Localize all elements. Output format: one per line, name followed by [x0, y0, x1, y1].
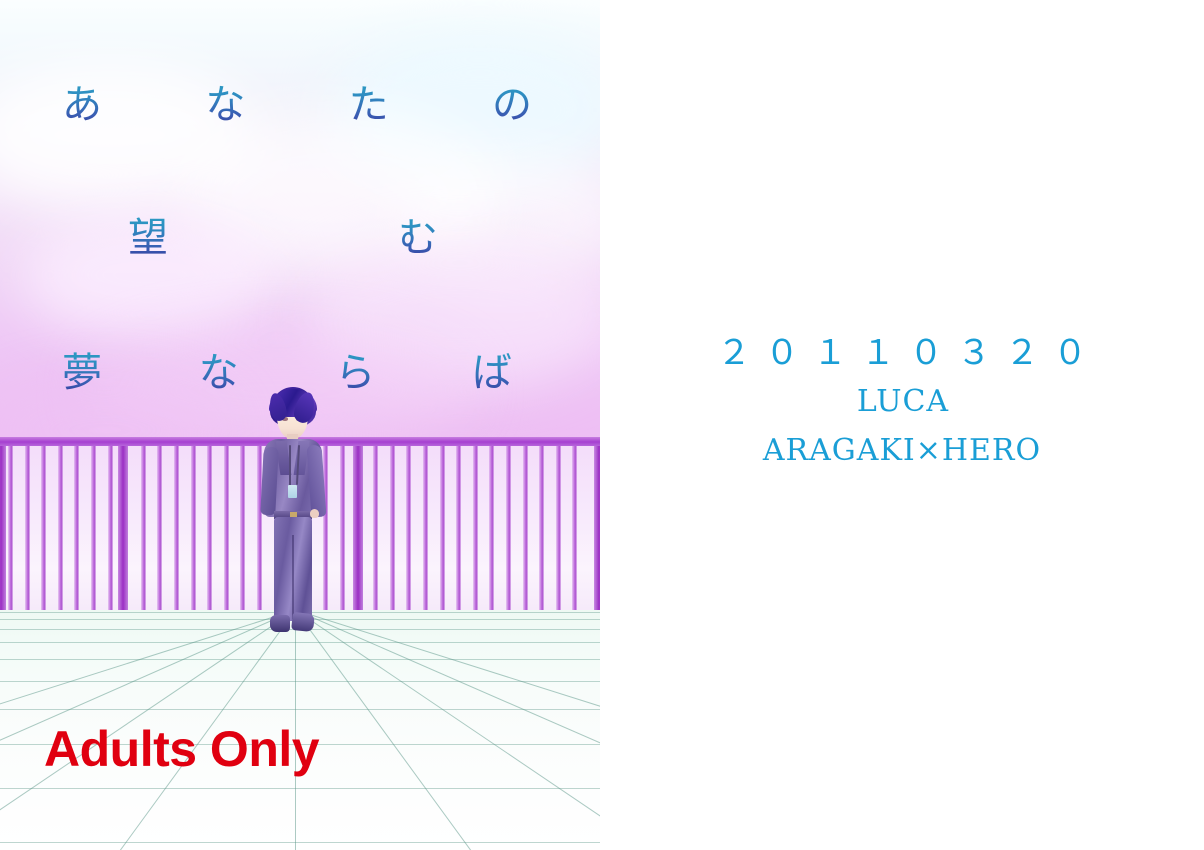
railing-bar: [456, 446, 461, 610]
railing-bar: [340, 446, 345, 610]
title-line-1: あ な た の: [62, 72, 532, 130]
title-char: ら: [335, 340, 375, 398]
railing-bar: [157, 446, 162, 610]
railing-bar: [74, 446, 79, 610]
railing-bar: [240, 446, 245, 610]
railing-bar: [8, 446, 13, 610]
floor-line-horizontal: [0, 709, 600, 710]
railing-bar: [108, 446, 113, 610]
railing-bar: [58, 446, 63, 610]
floor-line-vertical: [295, 610, 600, 850]
railing-bar: [489, 446, 494, 610]
railing-bar: [91, 446, 96, 610]
railing-bar: [423, 446, 428, 610]
title-char: の: [492, 72, 532, 130]
adults-only-label: Adults Only: [44, 724, 319, 774]
title-char: あ: [62, 72, 102, 130]
id-card: [288, 485, 297, 498]
floor-line-horizontal: [0, 842, 600, 843]
railing-bar: [141, 446, 146, 610]
railing-bar: [440, 446, 445, 610]
floor-line-vertical: [295, 610, 600, 850]
railing-bar: [473, 446, 478, 610]
railing-bar: [224, 446, 229, 610]
railing-bar: [25, 446, 30, 610]
circle-name: LUCA: [600, 385, 1204, 420]
shoe-right: [291, 612, 315, 632]
railing-bar: [523, 446, 528, 610]
credits-block: ２０１１０３２０ LUCA ARAGAKI×HERO: [600, 334, 1204, 468]
railing-bar: [191, 446, 196, 610]
railing-bar: [539, 446, 544, 610]
railing-bar: [390, 446, 395, 610]
shoe-left: [270, 615, 290, 632]
floor-line-vertical: [295, 610, 600, 850]
info-panel: ２０１１０３２０ LUCA ARAGAKI×HERO: [600, 0, 1204, 850]
railing-bar: [207, 446, 212, 610]
railing-post: [0, 446, 6, 610]
railing-bar: [41, 446, 46, 610]
title-char: ば: [472, 340, 512, 398]
railing-bar: [373, 446, 378, 610]
artwork-panel: あ な た の 望 む 夢 な ら ば: [0, 0, 600, 850]
pairing-label: ARAGAKI×HERO: [600, 434, 1204, 469]
trouser-seam: [292, 535, 294, 619]
title-line-2: 望 む: [128, 205, 438, 263]
hand-right: [310, 509, 319, 518]
cover-page: あ な た の 望 む 夢 な ら ば: [0, 0, 1204, 850]
railing-post: [118, 446, 128, 610]
railing-bar: [174, 446, 179, 610]
title-char: 夢: [62, 340, 102, 398]
railing-bar: [506, 446, 511, 610]
railing-bar: [406, 446, 411, 610]
title-char: た: [349, 72, 389, 130]
railing-bar: [572, 446, 577, 610]
title-char: な: [199, 340, 239, 398]
title-char: む: [398, 205, 438, 263]
release-date: ２０１１０３２０: [600, 334, 1204, 373]
title-char: な: [205, 72, 245, 130]
railing-bar: [556, 446, 561, 610]
railing-post: [353, 446, 363, 610]
character-figure: [252, 387, 334, 672]
floor-line-horizontal: [0, 788, 600, 789]
floor-line-horizontal: [0, 681, 600, 682]
title-char: 望: [128, 205, 168, 263]
